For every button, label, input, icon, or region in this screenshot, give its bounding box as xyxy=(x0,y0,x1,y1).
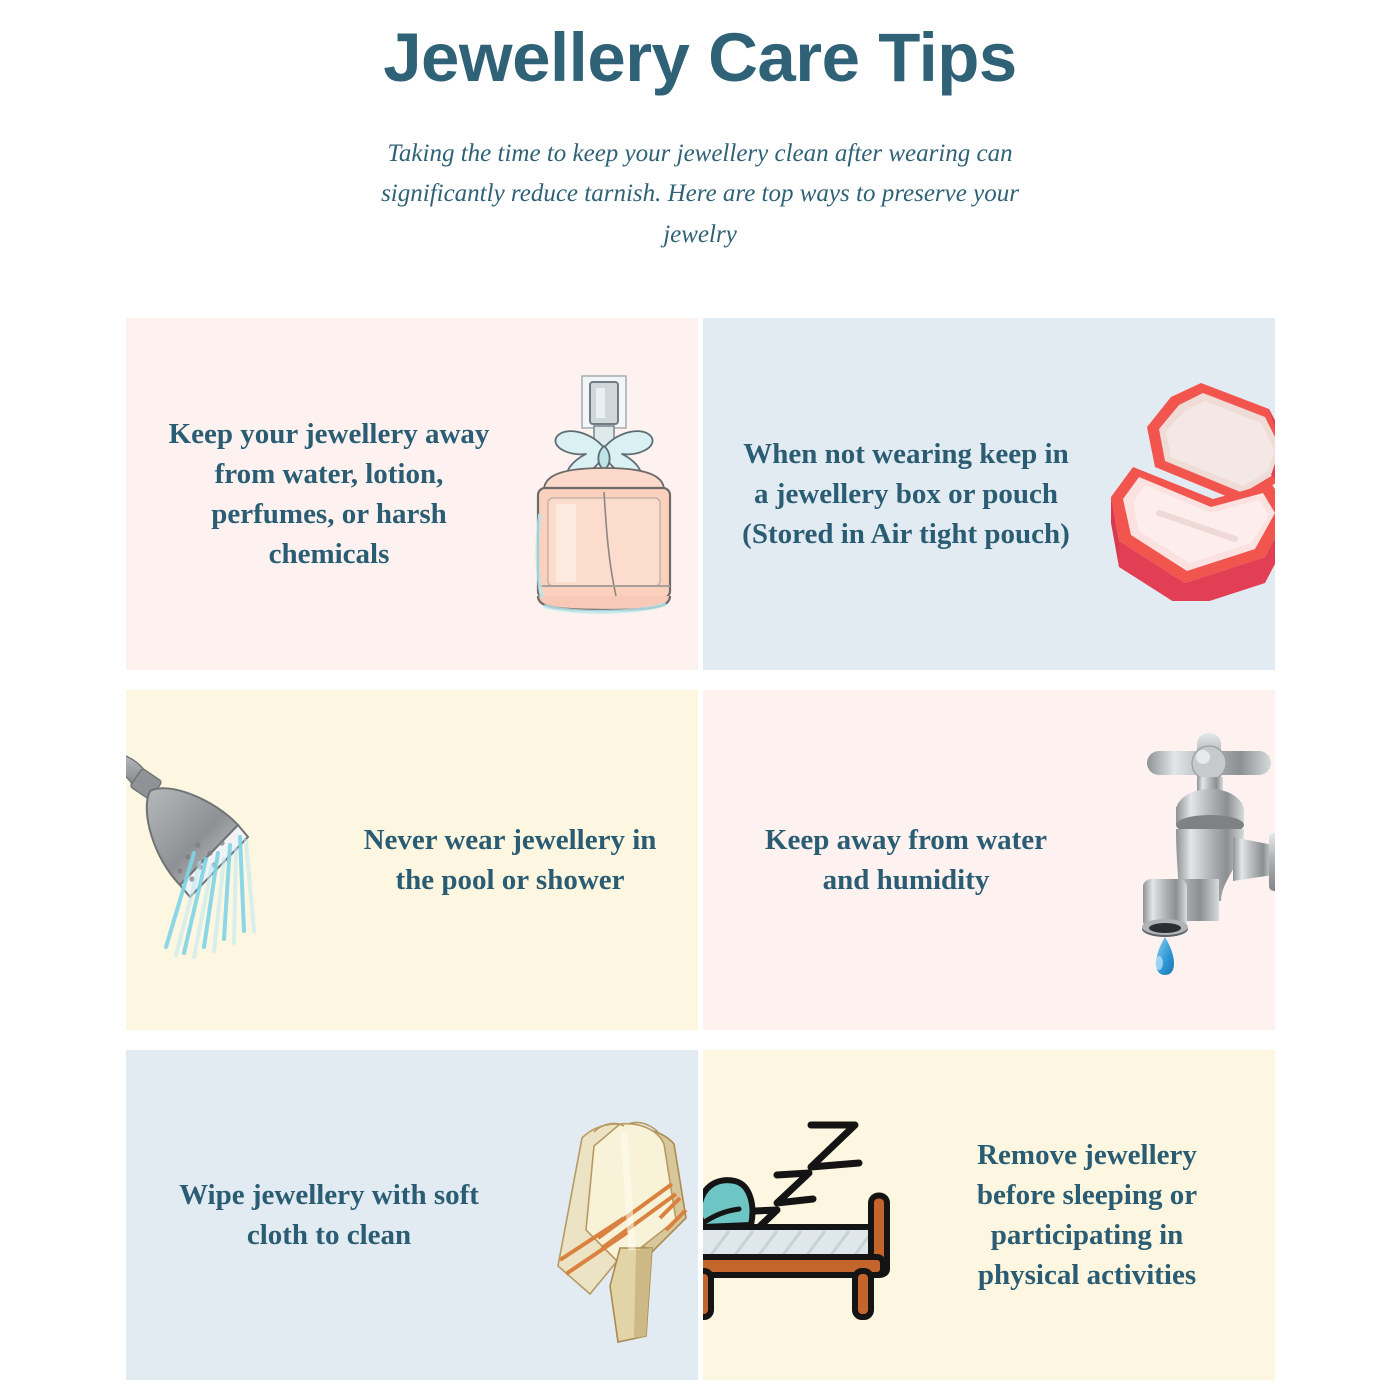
card-jewellery-box: When not wearing keep in a jewellery box… xyxy=(703,318,1275,670)
card-sleep-art xyxy=(703,1050,937,1380)
card-sleep-text: Remove jewellery before sleeping or part… xyxy=(937,1135,1237,1295)
perfume-bottle-icon xyxy=(504,364,698,624)
card-humidity-text: Keep away from water and humidity xyxy=(741,820,1071,900)
card-shower: Never wear jewellery in the pool or show… xyxy=(126,690,698,1030)
card-cloth-text: Wipe jewellery with soft cloth to clean xyxy=(164,1175,494,1255)
card-perfume: Keep your jewellery away from water, lot… xyxy=(126,318,698,670)
card-sleep: Remove jewellery before sleeping or part… xyxy=(703,1050,1275,1380)
card-jewellery-box-art xyxy=(1071,318,1275,670)
soft-cloth-icon xyxy=(524,1098,698,1348)
card-shower-text: Never wear jewellery in the pool or show… xyxy=(360,820,660,900)
infographic-page: Jewellery Care Tips Taking the time to k… xyxy=(0,0,1400,1400)
tips-grid: Keep your jewellery away from water, lot… xyxy=(126,318,1275,1380)
card-cloth-art xyxy=(494,1050,698,1380)
shower-head-icon xyxy=(126,733,318,963)
card-perfume-text: Keep your jewellery away from water, lot… xyxy=(164,414,494,574)
card-humidity: Keep away from water and humidity xyxy=(703,690,1275,1030)
card-shower-art xyxy=(126,690,360,1030)
ring-box-icon xyxy=(1093,371,1275,601)
header: Jewellery Care Tips Taking the time to k… xyxy=(0,0,1400,255)
bed-sleep-icon xyxy=(703,1111,909,1331)
card-humidity-art xyxy=(1071,690,1275,1030)
page-title: Jewellery Care Tips xyxy=(0,22,1400,94)
card-jewellery-box-text: When not wearing keep in a jewellery box… xyxy=(741,434,1071,554)
card-perfume-art xyxy=(494,318,698,670)
page-subtitle: Taking the time to keep your jewellery c… xyxy=(380,134,1020,256)
faucet-drip-icon xyxy=(1113,729,1275,979)
card-cloth: Wipe jewellery with soft cloth to clean xyxy=(126,1050,698,1380)
